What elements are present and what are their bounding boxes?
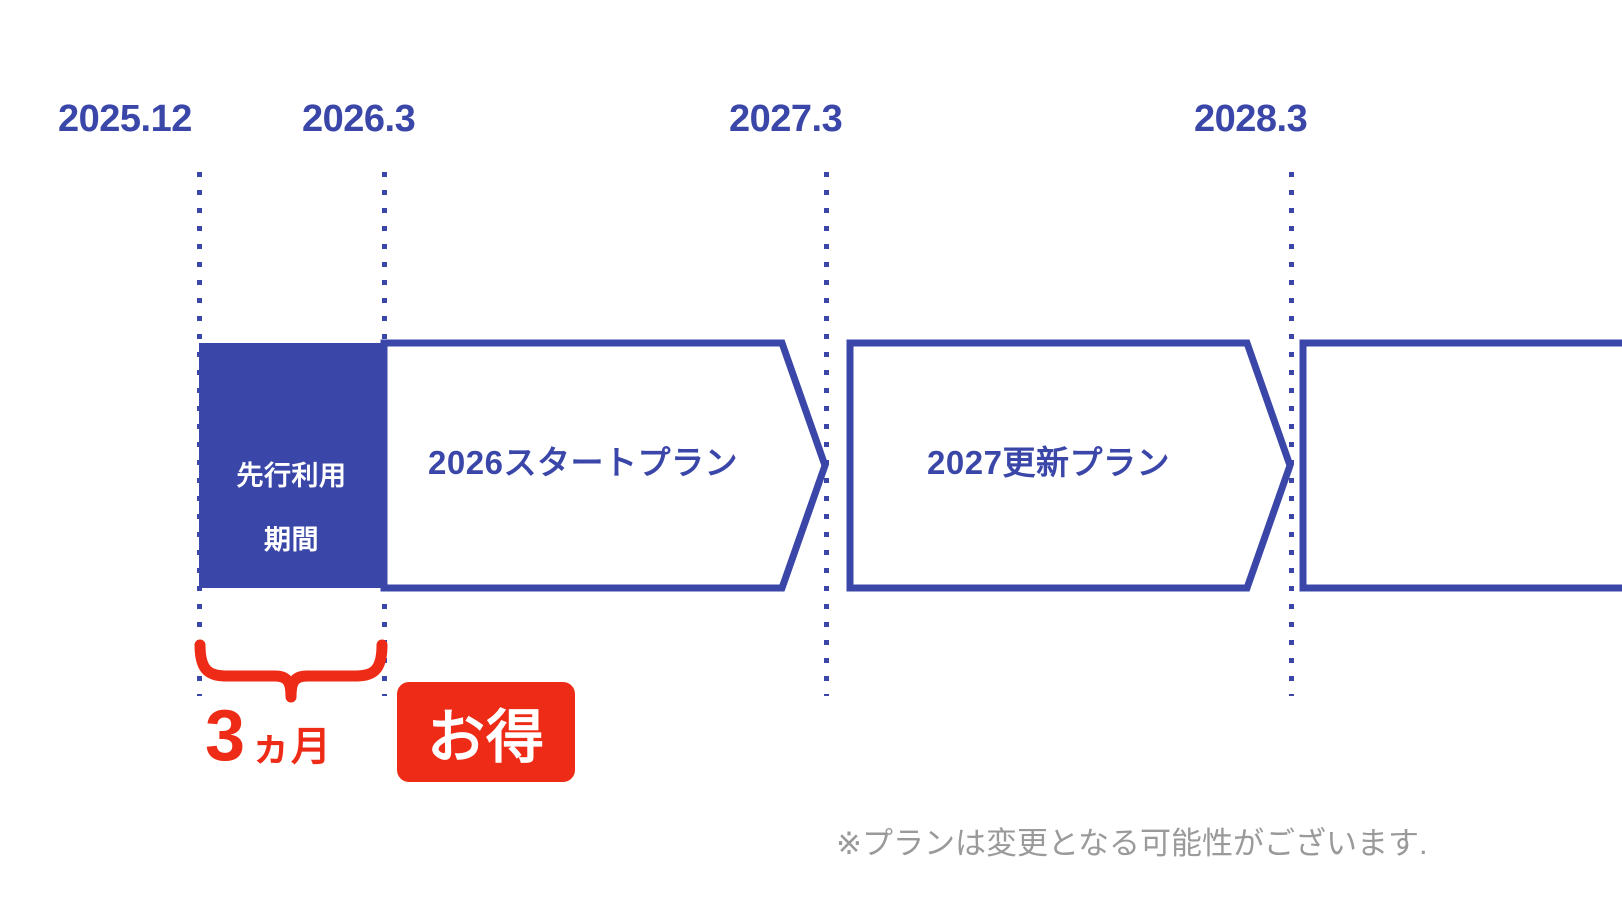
segment-shape-plan-2028 bbox=[1303, 343, 1622, 588]
duration-text: 3ヵ月 bbox=[205, 700, 331, 772]
duration-brace-icon bbox=[200, 645, 382, 697]
duration-number: 3 bbox=[205, 696, 245, 776]
timeline-diagram: 2025.12 2026.3 2027.3 2028.3 先行利用 期間 202… bbox=[0, 0, 1622, 924]
duration-unit: ヵ月 bbox=[251, 725, 331, 769]
segment-label-line2: 期間 bbox=[199, 525, 384, 557]
footnote-text: ※プランは変更となる可能性がございます. bbox=[836, 828, 1428, 859]
segment-label-advance-use-period: 先行利用 期間 bbox=[199, 429, 384, 588]
value-badge: お得 bbox=[397, 682, 575, 782]
segment-label-plan-2027: 2027更新プラン bbox=[850, 444, 1247, 483]
segment-label-plan-2026: 2026スタートプラン bbox=[384, 444, 782, 483]
segment-label-line1: 先行利用 bbox=[199, 461, 384, 493]
